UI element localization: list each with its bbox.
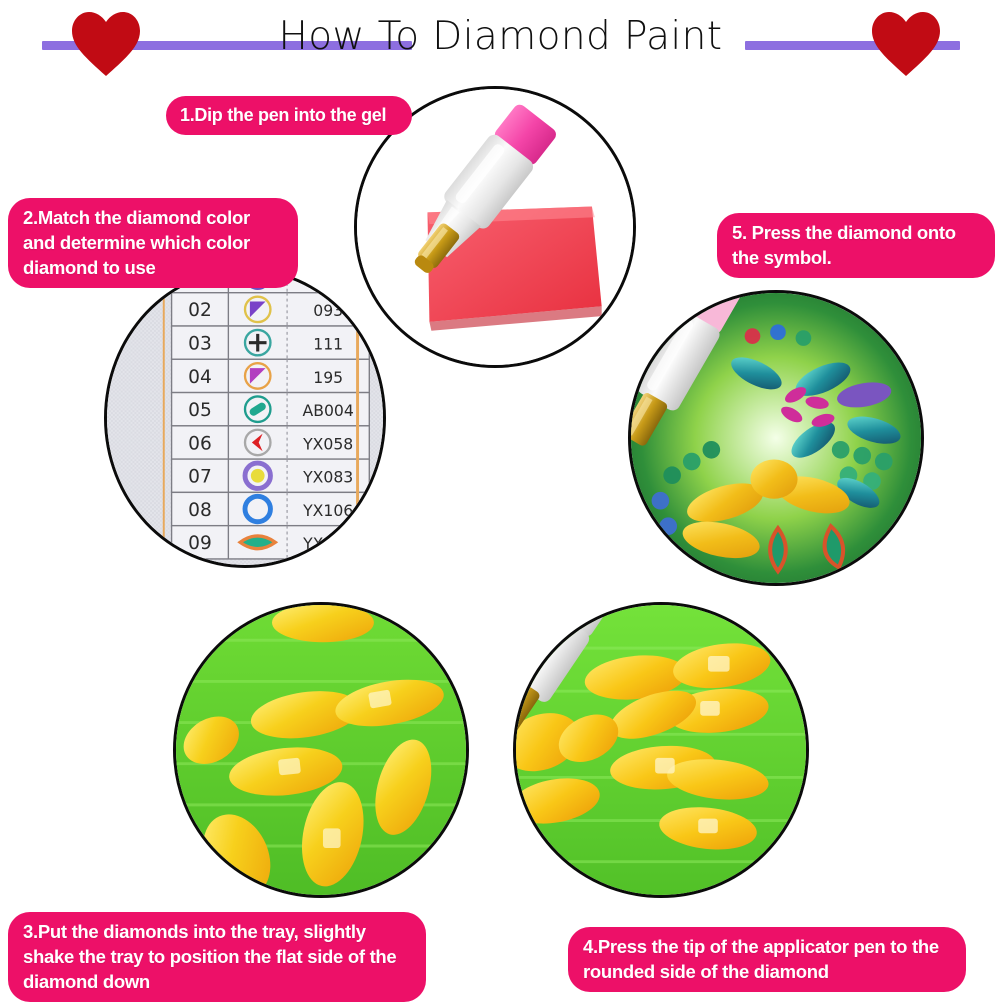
svg-text:06: 06 (188, 433, 212, 454)
svg-text:195: 195 (313, 368, 343, 387)
svg-text:04: 04 (188, 367, 212, 388)
photo-diamonds-in-tray (173, 602, 469, 898)
photo-color-chart: 02802093031110419505AB00406YX05807YX0830… (104, 268, 386, 568)
svg-text:YX083: YX083 (302, 468, 353, 487)
svg-text:YX125: YX125 (302, 534, 353, 553)
step-3-label: 3.Put the diamonds into the tray, slight… (8, 912, 426, 1002)
svg-text:02: 02 (188, 300, 212, 321)
step-1-label: 1.Dip the pen into the gel (166, 96, 412, 135)
step-5-label: 5. Press the diamond onto the symbol. (717, 213, 995, 278)
step-2-label: 2.Match the diamond color and determine … (8, 198, 298, 288)
page-title: How To Diamond Paint (0, 14, 1001, 59)
step-4-label: 4.Press the tip of the applicator pen to… (568, 927, 966, 992)
svg-text:YX058: YX058 (302, 434, 353, 453)
svg-text:08: 08 (188, 500, 212, 521)
photo-diamond-onto-symbol (628, 290, 924, 586)
svg-text:111: 111 (313, 334, 343, 353)
svg-text:03: 03 (188, 333, 212, 354)
svg-text:YX106: YX106 (302, 501, 353, 520)
svg-text:AB004: AB004 (303, 401, 354, 420)
svg-text:09: 09 (188, 533, 212, 554)
svg-text:028: 028 (313, 271, 343, 287)
header-banner: How To Diamond Paint (0, 0, 1001, 86)
photo-pen-pressing-diamond (513, 602, 809, 898)
svg-text:05: 05 (188, 400, 212, 421)
svg-text:093: 093 (313, 301, 343, 320)
svg-text:07: 07 (188, 467, 212, 488)
